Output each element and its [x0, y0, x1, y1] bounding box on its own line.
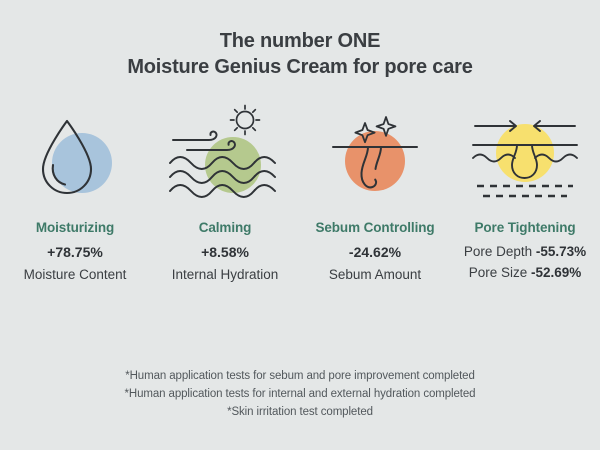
benefit-column-sebum: Sebum Controlling -24.62% Sebum Amount — [300, 103, 450, 282]
category-label: Pore Tightening — [474, 220, 575, 235]
pore-sparkle-icon — [315, 103, 435, 208]
water-droplet-icon — [15, 103, 135, 208]
footnotes: *Human application tests for sebum and p… — [0, 368, 600, 421]
benefit-column-pore-tightening: Pore Tightening Pore Depth -55.73% Pore … — [450, 103, 600, 280]
title-line-1: The number ONE — [127, 28, 472, 54]
stat-row-pore-depth: Pore Depth -55.73% — [464, 244, 586, 259]
stat-name: Pore Size — [469, 265, 528, 280]
stat-row-pore-size: Pore Size -52.69% — [469, 265, 582, 280]
benefit-column-moisturizing: Moisturizing +78.75% Moisture Content — [0, 103, 150, 282]
infographic-poster: The number ONE Moisture Genius Cream for… — [0, 0, 600, 450]
pore-tightening-icon — [465, 103, 585, 208]
benefit-columns: Moisturizing +78.75% Moisture Content — [0, 103, 600, 282]
stat-value: -24.62% — [349, 244, 401, 260]
category-label: Sebum Controlling — [315, 220, 434, 235]
stat-name: Pore Depth — [464, 244, 532, 259]
sun-wind-waves-icon — [165, 103, 285, 208]
stat-name: Sebum Amount — [329, 267, 421, 282]
title-line-2: Moisture Genius Cream for pore care — [127, 54, 472, 80]
benefit-column-calming: Calming +8.58% Internal Hydration — [150, 103, 300, 282]
stat-value: +78.75% — [47, 244, 103, 260]
footnote-item: *Human application tests for internal an… — [0, 386, 600, 404]
stat-value: -55.73% — [536, 244, 586, 259]
category-label: Moisturizing — [36, 220, 114, 235]
footnote-item: *Human application tests for sebum and p… — [0, 368, 600, 386]
stat-name: Internal Hydration — [172, 267, 279, 282]
category-label: Calming — [199, 220, 252, 235]
stat-name: Moisture Content — [24, 267, 127, 282]
footnote-item: *Skin irritation test completed — [0, 404, 600, 422]
stat-value: +8.58% — [201, 244, 249, 260]
stat-value: -52.69% — [531, 265, 581, 280]
page-title: The number ONE Moisture Genius Cream for… — [127, 28, 472, 81]
